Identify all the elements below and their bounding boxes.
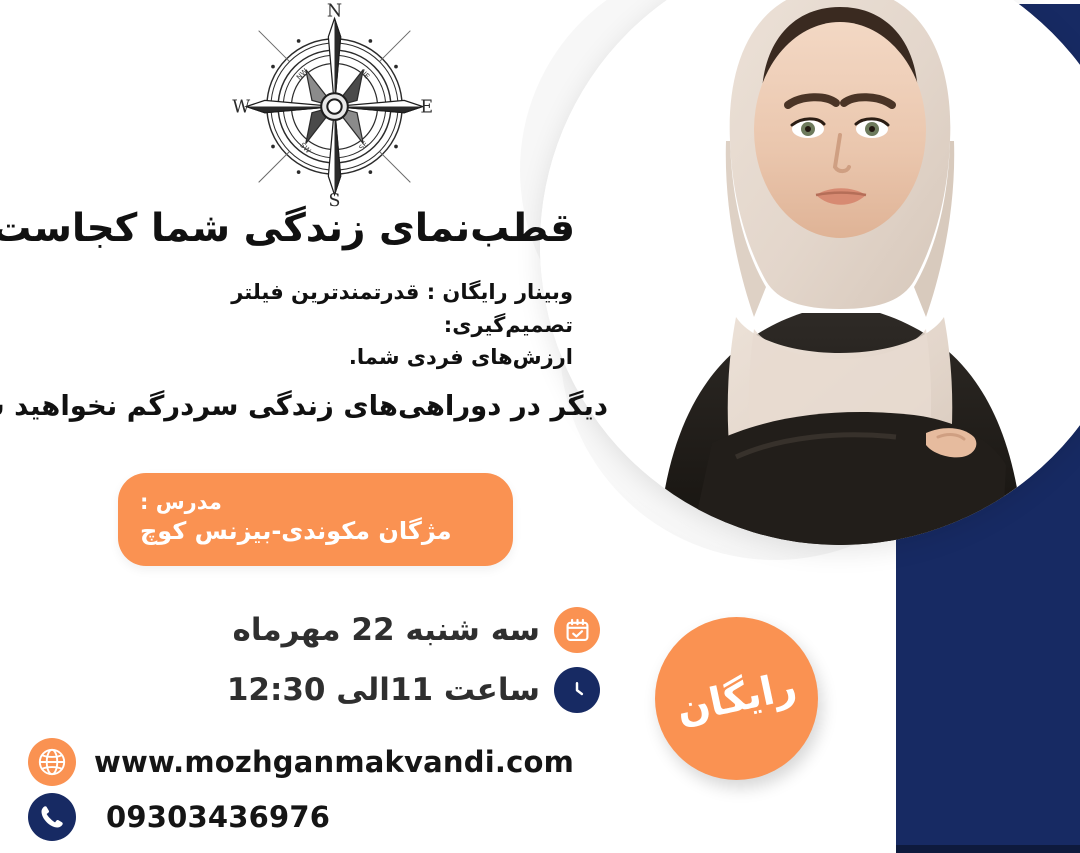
instructor-label: مدرس : xyxy=(140,489,222,515)
instructor-name: مژگان مکوندی-بیزنس کوچ xyxy=(140,516,452,546)
compass-label-north: N xyxy=(327,2,342,21)
time-row: ساعت 11الی 12:30 xyxy=(227,667,600,713)
date-row: سه شنبه 22 مهرماه xyxy=(233,607,600,653)
free-badge: رایگان xyxy=(655,617,818,780)
date-text: سه شنبه 22 مهرماه xyxy=(233,612,540,648)
website-row[interactable]: www.mozhganmakvandi.com xyxy=(28,738,574,786)
subtitle-line-2: ارزش‌های فردی شما. xyxy=(133,341,573,374)
compass-label-west: W xyxy=(232,98,250,118)
page-title: قطب‌نمای زندگی شما کجاست؟ xyxy=(75,206,575,252)
phone-row[interactable]: 09303436976 xyxy=(28,793,330,841)
instructor-badge: مدرس : مژگان مکوندی-بیزنس کوچ xyxy=(118,473,513,566)
phone-text[interactable]: 09303436976 xyxy=(106,800,330,834)
compass-label-south: S xyxy=(329,191,341,207)
webinar-poster: N E S W NE SE SW NW قطب‌نمای زندگی شما ک… xyxy=(0,0,1080,853)
time-text: ساعت 11الی 12:30 xyxy=(227,672,540,708)
clock-icon xyxy=(554,667,600,713)
compass-label-southeast: SE xyxy=(357,139,370,152)
instructor-photo-frame xyxy=(540,0,1080,545)
compass-label-east: E xyxy=(420,98,433,118)
subtitle-line-1: وبینار رایگان : قدرتمندترین فیلتر تصمیم‌… xyxy=(133,276,573,341)
free-badge-label: رایگان xyxy=(673,664,801,733)
tagline: دیگر در دوراهی‌های زندگی سردرگم نخواهید … xyxy=(0,390,608,423)
phone-icon xyxy=(28,793,76,841)
globe-icon xyxy=(28,738,76,786)
calendar-check-icon xyxy=(554,607,600,653)
instructor-portrait xyxy=(540,0,1080,545)
navy-band-bottom-edge xyxy=(896,845,1080,853)
compass-rose-icon: N E S W NE SE SW NW xyxy=(232,2,437,207)
website-text[interactable]: www.mozhganmakvandi.com xyxy=(94,745,574,779)
subtitle-block: وبینار رایگان : قدرتمندترین فیلتر تصمیم‌… xyxy=(133,276,573,374)
